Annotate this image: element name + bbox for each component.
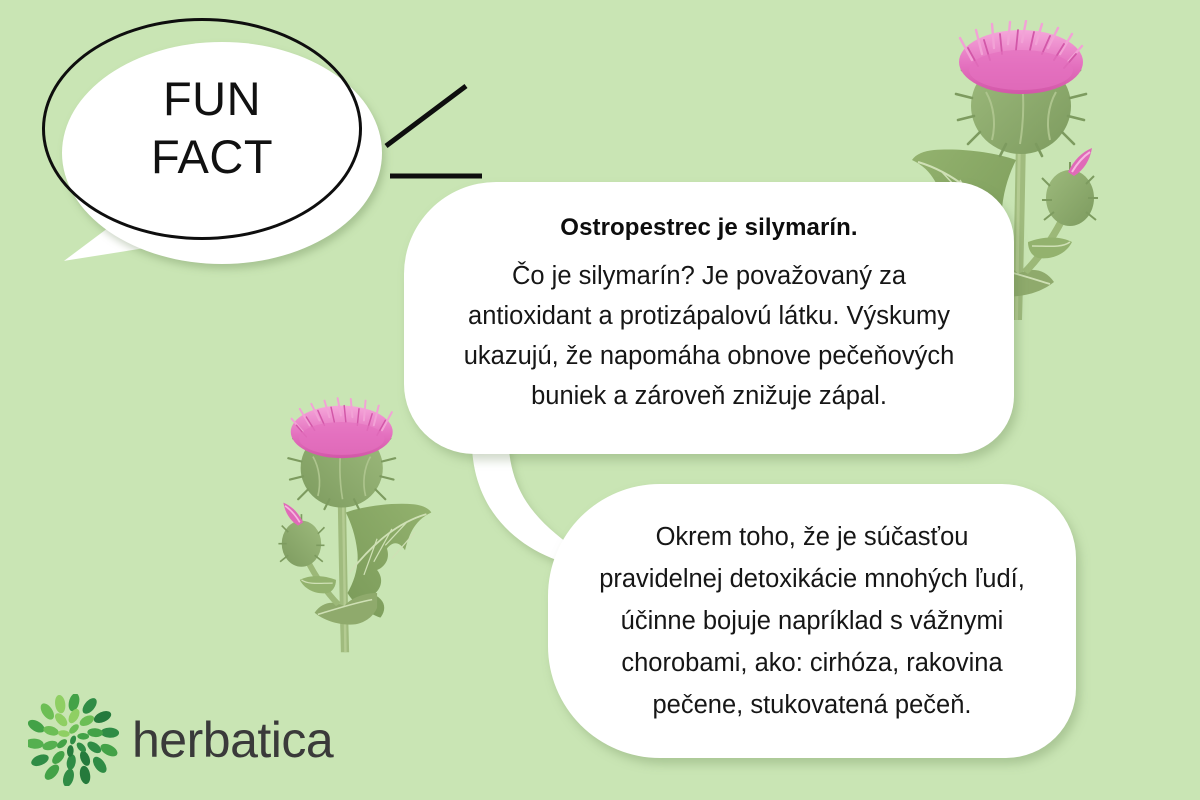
poster-canvas: FUN FACT [0, 0, 1200, 800]
bubble-heading: Ostropestrec je silymarín. [448, 214, 970, 242]
speech-bubble-secondary: Okrem toho, že je súčasťou pravidelnej d… [548, 484, 1076, 758]
speech-bubble-primary: Ostropestrec je silymarín. Čo je silymar… [404, 182, 1014, 454]
brand-wordmark: herbatica [132, 715, 333, 765]
speech-bubble-primary-content: Ostropestrec je silymarín. Čo je silymar… [404, 182, 1014, 454]
bubble-body-text: Okrem toho, že je súčasťou pravidelnej d… [594, 516, 1030, 726]
bubble-body-text: Čo je silymarín? Je považovaný za antiox… [448, 256, 970, 416]
fun-fact-line-1: FUN [62, 70, 362, 128]
brand-logo[interactable]: herbatica [28, 694, 328, 786]
fun-fact-line-2: FACT [62, 128, 362, 186]
emphasis-rays-icon [382, 66, 502, 196]
fun-fact-badge: FUN FACT [42, 18, 382, 268]
speech-bubble-secondary-content: Okrem toho, že je súčasťou pravidelnej d… [548, 484, 1076, 758]
fun-fact-label: FUN FACT [62, 70, 362, 186]
leaf-spiral-icon [28, 694, 120, 786]
